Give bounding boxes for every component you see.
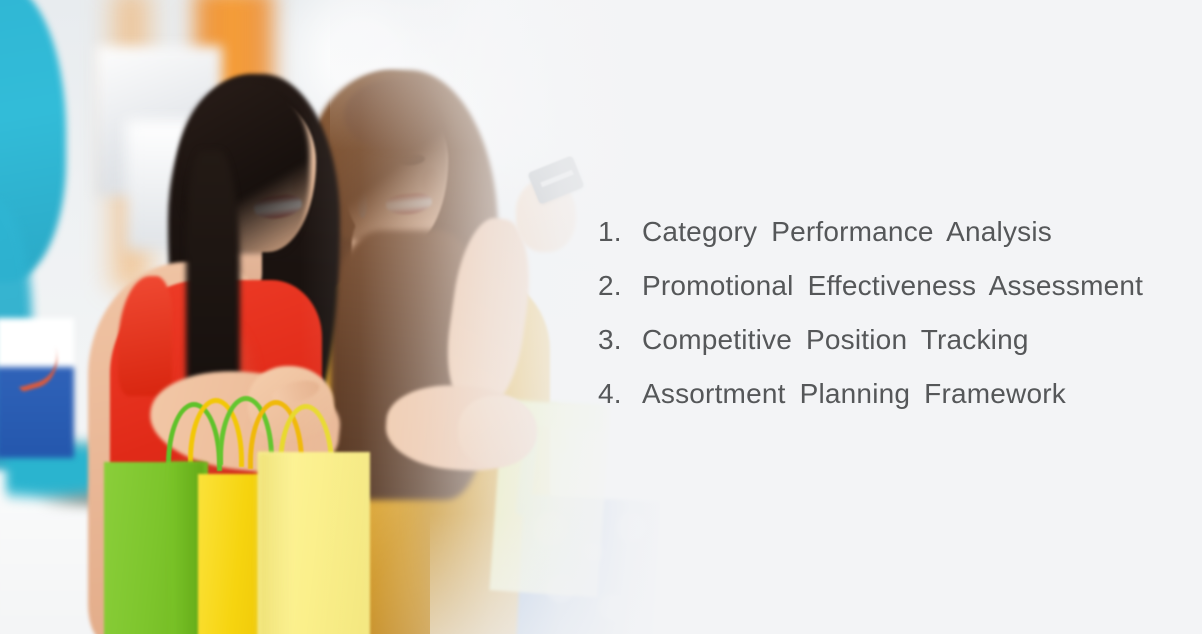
hero-photo-canvas bbox=[0, 0, 700, 634]
numbered-list: 1. Category Performance Analysis 2. Prom… bbox=[598, 216, 1198, 432]
list-item-label: Promotional Effectiveness Assessment bbox=[642, 270, 1143, 302]
list-item-number: 2. bbox=[598, 270, 642, 302]
woman-brown-hair-sweep bbox=[344, 78, 448, 152]
list-item[interactable]: 1. Category Performance Analysis bbox=[598, 216, 1198, 270]
list-item-label: Assortment Planning Framework bbox=[642, 378, 1066, 410]
shopping-bag-cream-shade bbox=[258, 452, 292, 634]
list-item[interactable]: 4. Assortment Planning Framework bbox=[598, 378, 1198, 432]
list-item-number: 1. bbox=[598, 216, 642, 248]
woman-brown-hair-lower-hand bbox=[458, 396, 536, 466]
list-item-number: 4. bbox=[598, 378, 642, 410]
list-item[interactable]: 2. Promotional Effectiveness Assessment bbox=[598, 270, 1198, 324]
list-item-label: Category Performance Analysis bbox=[642, 216, 1052, 248]
list-item-label: Competitive Position Tracking bbox=[642, 324, 1029, 356]
list-item[interactable]: 3. Competitive Position Tracking bbox=[598, 324, 1198, 378]
hero-photo bbox=[0, 0, 700, 634]
slide-root: 1. Category Performance Analysis 2. Prom… bbox=[0, 0, 1202, 634]
list-item-number: 3. bbox=[598, 324, 642, 356]
